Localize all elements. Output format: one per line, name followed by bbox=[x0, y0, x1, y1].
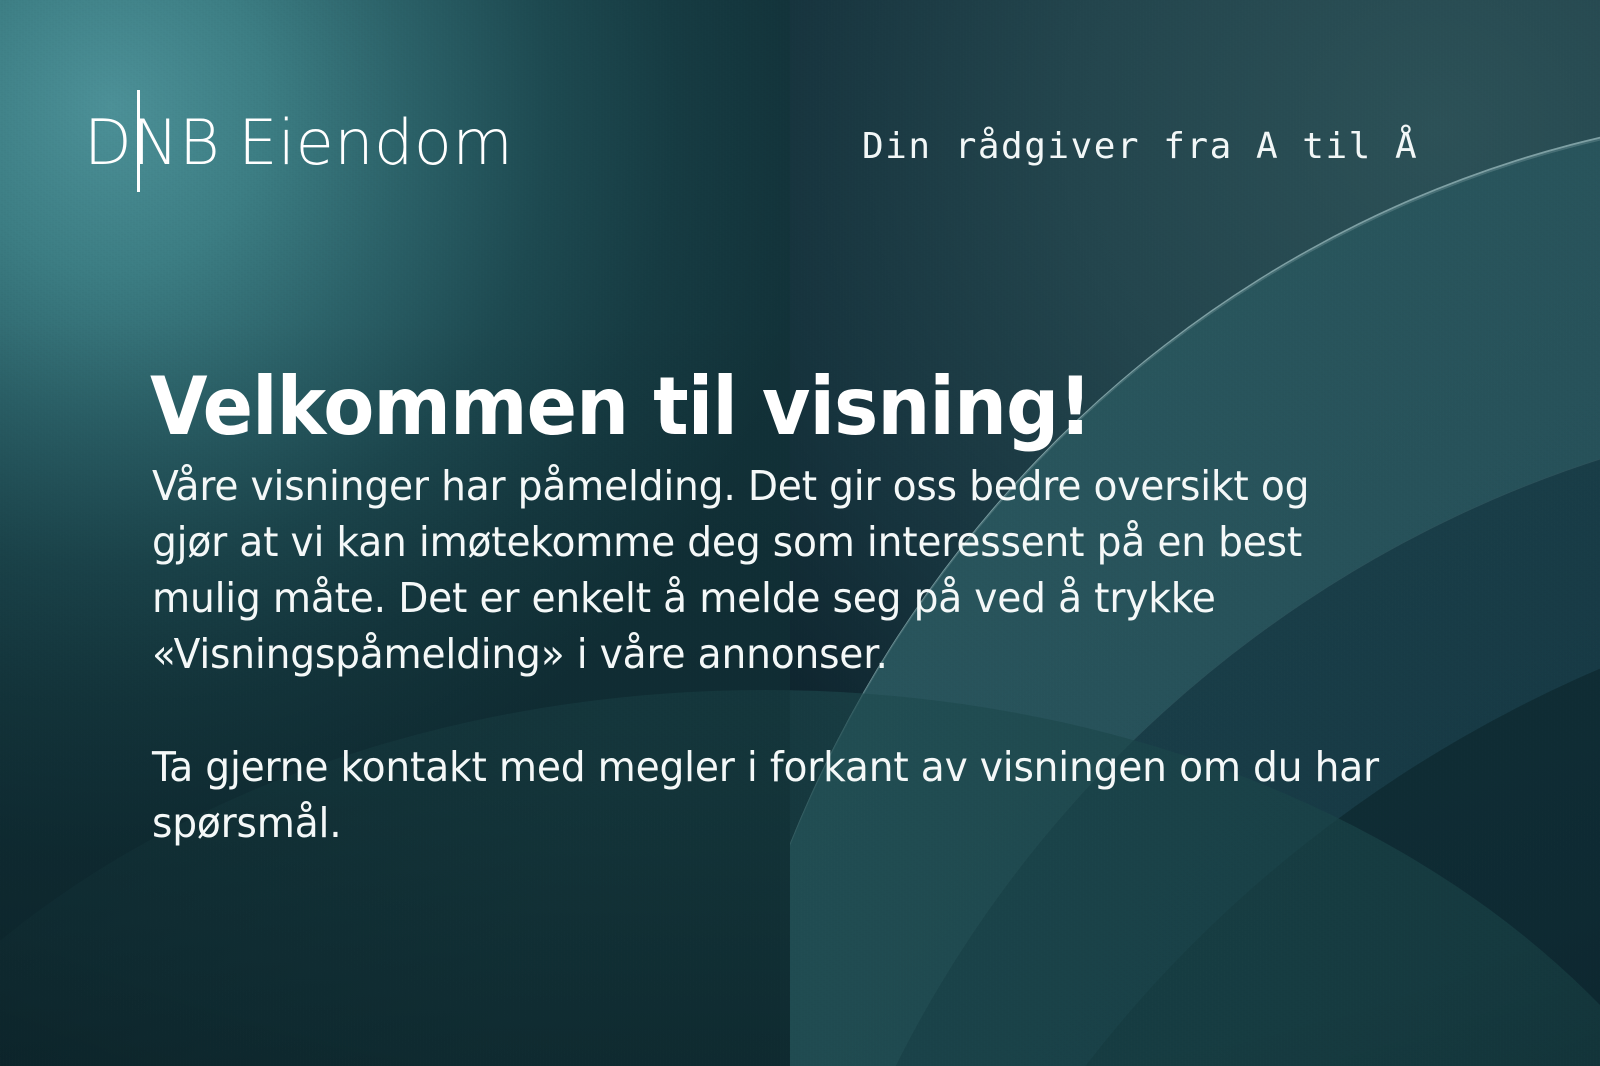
page-title: Velkommen til visning! bbox=[150, 366, 1091, 448]
paragraph-contact: Ta gjerne kontakt med megler i forkant a… bbox=[152, 739, 1394, 851]
logo-dnb-mark: DNB bbox=[84, 112, 222, 174]
slide-content: DNB Eiendom Din rådgiver fra A til Å Vel… bbox=[0, 0, 1600, 1066]
body-copy: Våre visninger har påmelding. Det gir os… bbox=[152, 458, 1394, 851]
slide-canvas: DNB Eiendom Din rådgiver fra A til Å Vel… bbox=[0, 0, 1600, 1066]
paragraph-spacer bbox=[152, 683, 1394, 739]
brand-tagline: Din rådgiver fra A til Å bbox=[862, 126, 1418, 167]
logo-eiendom-word: Eiendom bbox=[238, 112, 513, 174]
dnb-eiendom-logo: DNB Eiendom bbox=[84, 112, 513, 174]
paragraph-intro: Våre visninger har påmelding. Det gir os… bbox=[152, 458, 1394, 683]
